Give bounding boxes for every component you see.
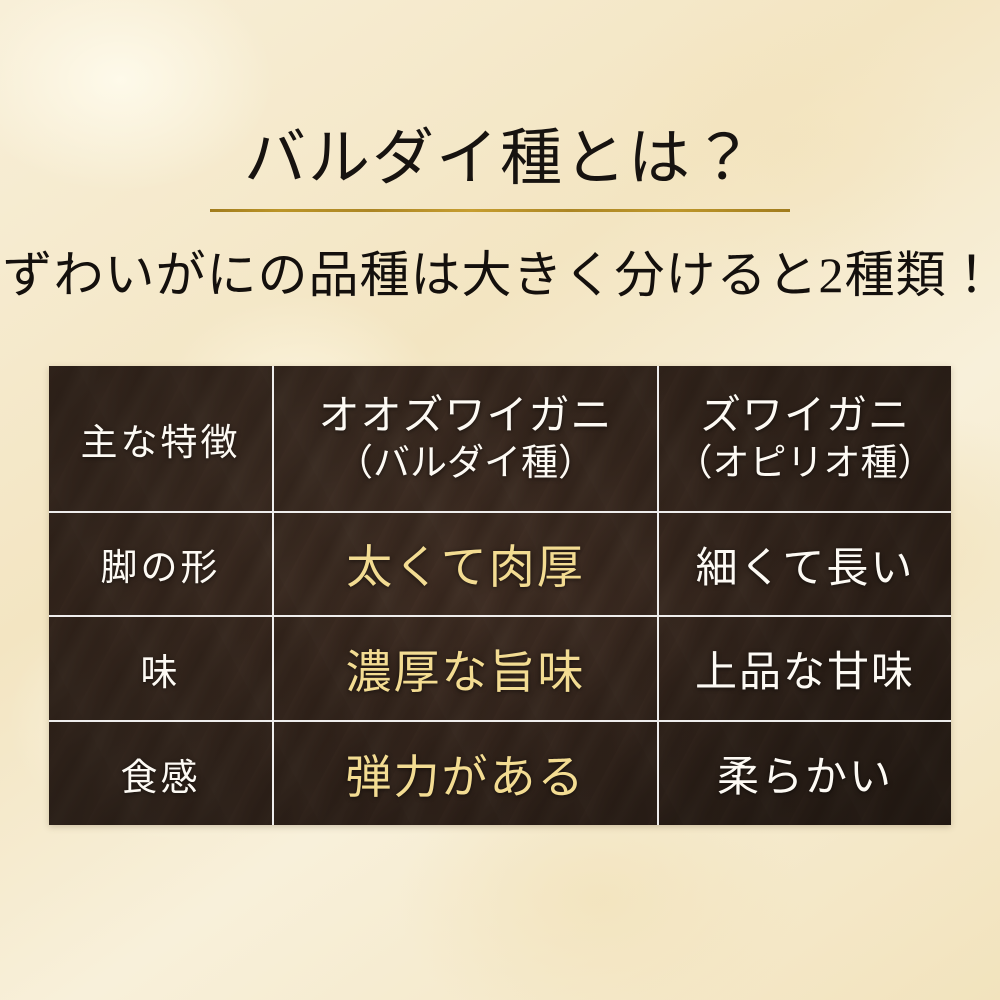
cell-opilio-texture: 柔らかい xyxy=(717,743,893,804)
table-header-bairdi: オオズワイガニ （バルダイ種） xyxy=(274,366,659,513)
table-row: 味 xyxy=(49,617,274,722)
page-title: バルダイ種とは？ xyxy=(0,126,1000,193)
header-bairdi-subname: （バルダイ種） xyxy=(319,441,613,487)
table-row: 濃厚な旨味 xyxy=(274,617,659,722)
comparison-table: 主な特徴 オオズワイガニ （バルダイ種） ズワイガニ （オピリオ種） 脚の形 太… xyxy=(49,366,951,825)
title-block: バルダイ種とは？ xyxy=(0,126,1000,212)
row-label-taste: 味 xyxy=(141,642,181,696)
infographic-page: バルダイ種とは？ ずわいがにの品種は大きく分けると2種類！ 主な特徴 オオズワイ… xyxy=(0,0,1000,1000)
cell-opilio-taste: 上品な甘味 xyxy=(695,638,915,699)
table-header-feature: 主な特徴 xyxy=(49,366,274,513)
table-row: 柔らかい xyxy=(659,722,951,825)
header-label-opilio: ズワイガニ （オピリオ種） xyxy=(676,390,935,487)
cell-bairdi-texture: 弾力がある xyxy=(346,741,586,807)
table-row: 細くて長い xyxy=(659,513,951,617)
table-row: 上品な甘味 xyxy=(659,617,951,722)
cell-bairdi-taste: 濃厚な旨味 xyxy=(346,636,586,702)
comparison-table-grid: 主な特徴 オオズワイガニ （バルダイ種） ズワイガニ （オピリオ種） 脚の形 太… xyxy=(49,366,951,825)
header-opilio-name: ズワイガニ xyxy=(700,392,910,438)
table-row: 弾力がある xyxy=(274,722,659,825)
cell-bairdi-leg-shape: 太くて肉厚 xyxy=(346,531,585,597)
row-label-texture: 食感 xyxy=(121,747,201,801)
table-row: 食感 xyxy=(49,722,274,825)
table-header-opilio: ズワイガニ （オピリオ種） xyxy=(659,366,951,513)
header-label-feature: 主な特徴 xyxy=(81,412,241,466)
page-subtitle: ずわいがにの品種は大きく分けると2種類！ xyxy=(0,248,1000,303)
header-bairdi-name: オオズワイガニ xyxy=(319,392,613,438)
row-label-leg-shape: 脚の形 xyxy=(101,537,221,591)
header-label-bairdi: オオズワイガニ （バルダイ種） xyxy=(319,390,613,487)
header-opilio-subname: （オピリオ種） xyxy=(676,441,935,487)
cell-opilio-leg-shape: 細くて長い xyxy=(696,534,915,595)
table-row: 脚の形 xyxy=(49,513,274,617)
table-row: 太くて肉厚 xyxy=(274,513,659,617)
title-underline-rule xyxy=(210,209,790,212)
